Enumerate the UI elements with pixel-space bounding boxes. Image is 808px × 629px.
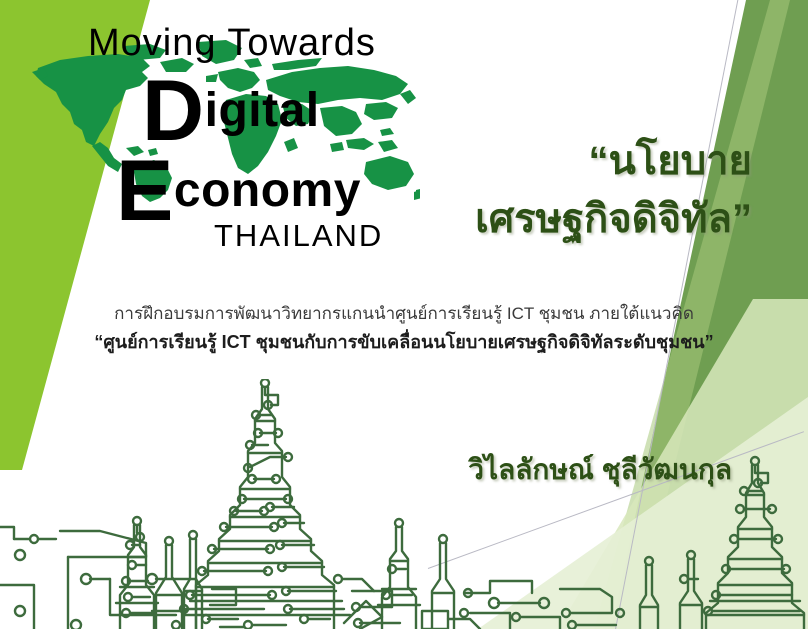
circuit-temple-skyline-icon — [0, 379, 808, 629]
page-title: “นโยบาย เศรษฐกิจดิจิทัล” — [332, 132, 752, 248]
logo-line-moving-towards: Moving Towards — [88, 24, 376, 62]
slide-canvas: Moving Towards Digital Economy THAILAND … — [0, 0, 808, 629]
logo-word-igital: igital — [205, 84, 320, 137]
logo-letter-e: E — [116, 143, 174, 239]
logo-line-digital: Digital — [142, 68, 320, 154]
subtitle-block: การฝึกอบรมการพัฒนาวิทยากรแกนนำศูนย์การเร… — [0, 300, 808, 358]
headline-line-2: เศรษฐกิจดิจิทัล” — [332, 190, 752, 248]
subtitle-line-2: “ศูนย์การเรียนรู้ ICT ชุมชนกับการขับเคลื… — [0, 327, 808, 358]
subtitle-line-1: การฝึกอบรมการพัฒนาวิทยากรแกนนำศูนย์การเร… — [0, 300, 808, 327]
headline-line-1: “นโยบาย — [332, 132, 752, 190]
